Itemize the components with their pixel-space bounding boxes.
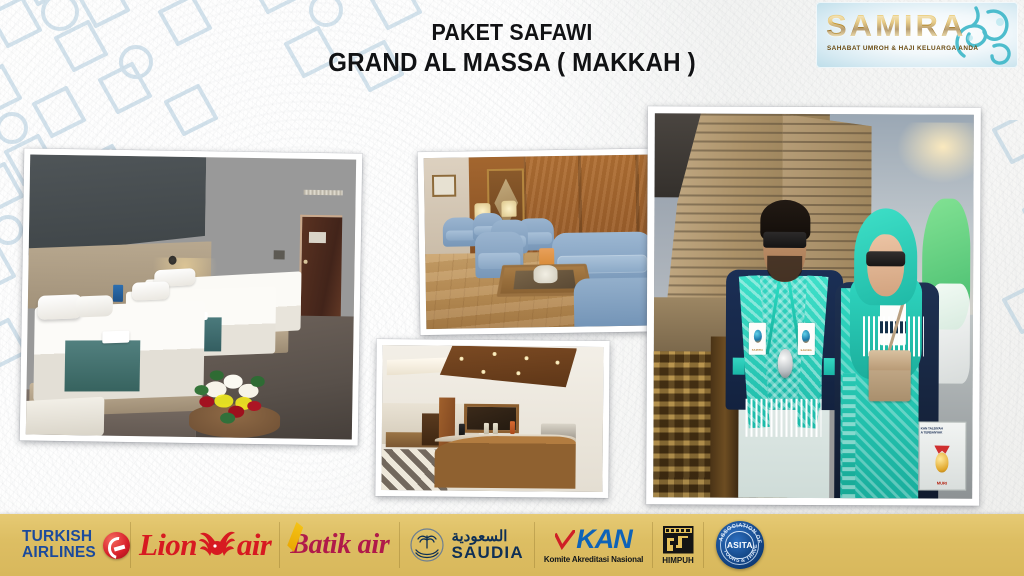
islamic-pattern-motif-top xyxy=(230,0,450,130)
partner-logos-banner: TURKISH AIRLINES Lion air xyxy=(0,514,1024,576)
partner-logo-asita[interactable]: ASSOCIATION OF THE INDONESIAN TOURS & TR… xyxy=(704,514,776,576)
samira-brand-logo: SAMIRA SAHABAT UMROH & HAJI KELUARGA AND… xyxy=(816,2,1018,68)
hotel-room-photo-image xyxy=(26,154,356,439)
kan-subtitle: Komite Akreditasi Nasional xyxy=(544,555,643,564)
saudia-arabic-name: السعودية xyxy=(451,529,523,544)
sunglasses-icon xyxy=(763,232,806,248)
brand-tagline: SAHABAT UMROH & HAJI KELUARGA ANDA xyxy=(827,45,999,52)
lion-air-word-right: air xyxy=(237,527,271,563)
red-checkmark-icon xyxy=(555,530,575,550)
certificate-award: MURI xyxy=(919,481,965,486)
hotel-restaurant-photo-image xyxy=(381,345,603,492)
pilgrim-man-figure: SAMIRA SAMIRA xyxy=(730,206,840,498)
turkish-airlines-line-2: AIRLINES xyxy=(22,545,96,561)
himpuh-subtitle: HIMPUH xyxy=(662,556,694,565)
crossbody-bag xyxy=(869,350,910,401)
turkish-airlines-line-1: TURKISH xyxy=(22,529,96,545)
partner-logo-batik-air[interactable]: Batik air xyxy=(280,514,399,576)
partner-logo-himpuh[interactable]: HIMPUH xyxy=(653,514,703,576)
partner-logo-turkish-airlines[interactable]: TURKISH AIRLINES xyxy=(0,514,130,576)
muri-award-banner: KAN TALBIYAH A TERBANYAK MURI xyxy=(918,422,966,491)
turkish-airlines-bird-roundel-icon xyxy=(103,532,130,559)
pilgrim-couple-photo[interactable]: SAMIRA SAMIRA xyxy=(646,106,981,505)
partner-logo-lion-air[interactable]: Lion air xyxy=(131,514,279,576)
hotel-room-photo[interactable] xyxy=(20,148,363,445)
uniform-patch-brand-right: SAMIRA xyxy=(798,349,815,352)
asita-word: ASITA xyxy=(727,540,753,550)
certificate-line-2: A TERBANYAK xyxy=(921,431,943,435)
saudia-latin-name: SAUDIA xyxy=(451,544,523,562)
lion-head-icon xyxy=(199,528,235,562)
slide-canvas: PAKET SAFAWI GRAND AL MASSA ( MAKKAH ) S… xyxy=(0,0,1024,576)
partner-logo-kan[interactable]: KAN Komite Akreditasi Nasional xyxy=(535,514,652,576)
sunglasses-icon xyxy=(866,251,905,267)
palm-tree-and-swords-icon xyxy=(410,528,444,562)
partner-logo-saudia[interactable]: السعودية SAUDIA xyxy=(400,514,533,576)
kaaba-glyph-icon xyxy=(663,526,694,554)
batik-air-word: Batik air xyxy=(290,529,389,560)
asita-star-seal-icon: ASSOCIATION OF THE INDONESIAN TOURS & TR… xyxy=(716,521,764,569)
lion-air-word-left: Lion xyxy=(139,527,197,563)
pilgrim-couple-photo-image: SAMIRA SAMIRA xyxy=(653,113,974,498)
uniform-patch-brand-left: SAMIRA xyxy=(749,349,766,352)
hotel-restaurant-photo[interactable] xyxy=(375,339,609,498)
brand-wordmark: SAMIRA xyxy=(826,10,976,41)
kan-word: KAN xyxy=(576,526,632,553)
medal-icon xyxy=(935,452,949,472)
